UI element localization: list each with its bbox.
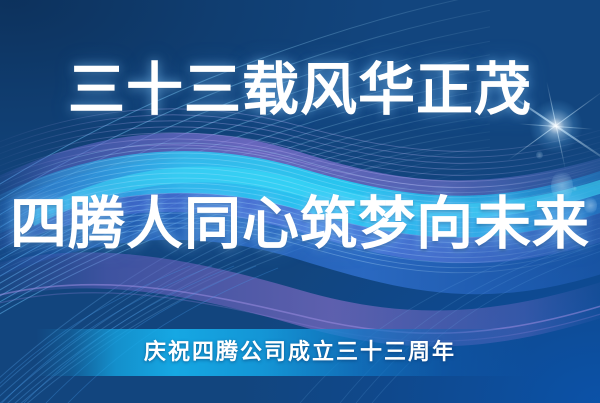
light-orb-icon: [536, 151, 543, 159]
poster-subtitle: 庆祝四腾公司成立三十三周年: [0, 336, 600, 368]
poster-canvas: 三十三载风华正茂 四腾人同心筑梦向未来 庆祝四腾公司成立三十三周年: [0, 0, 600, 403]
headline-line-2: 四腾人同心筑梦向未来: [0, 192, 600, 256]
headline-line-1: 三十三载风华正茂: [0, 58, 600, 122]
